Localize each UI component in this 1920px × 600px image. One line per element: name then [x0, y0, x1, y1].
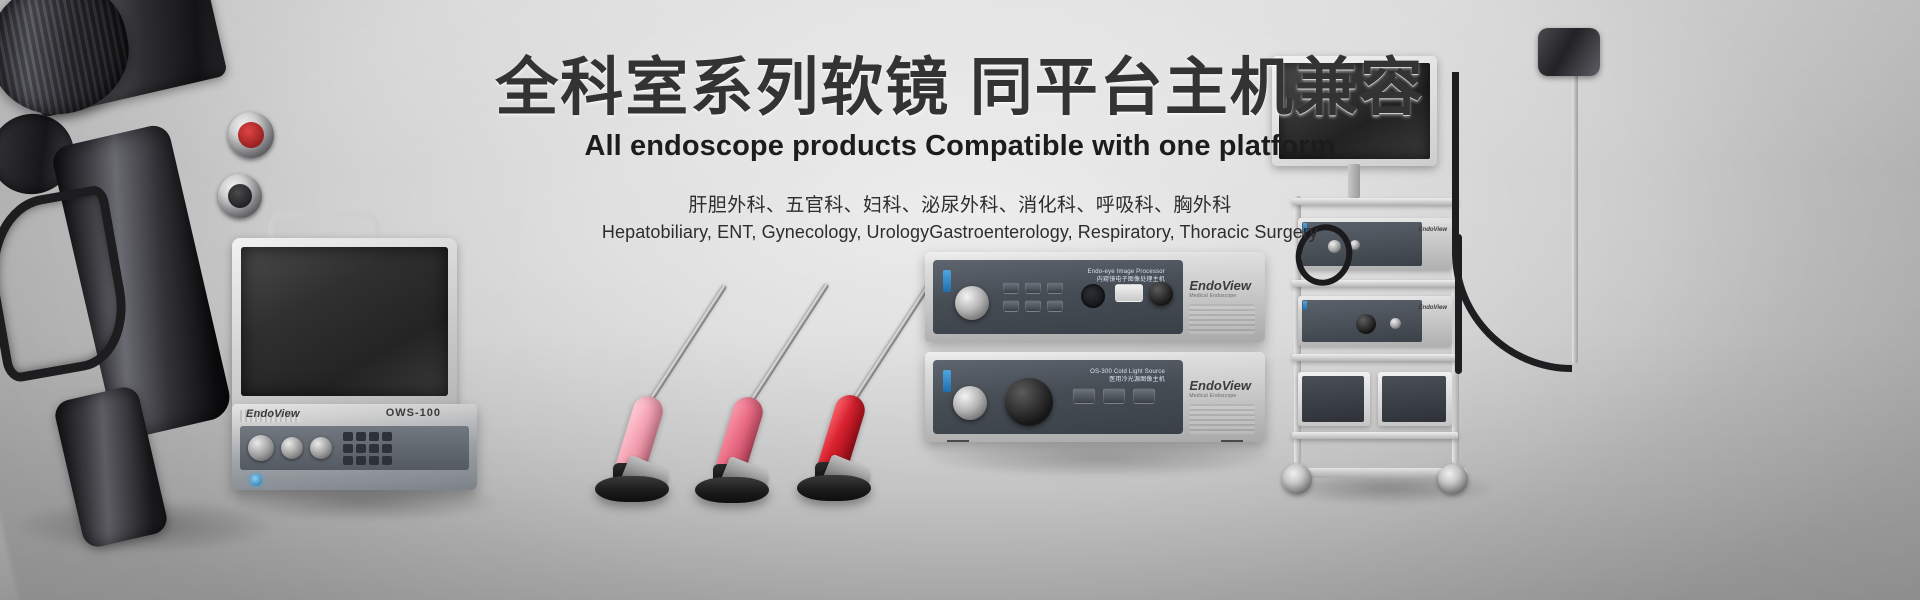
workstation-knob-2 — [281, 437, 303, 459]
processor-secondary-knob — [1149, 282, 1173, 306]
banner-headline: 全科室系列软镜 同平台主机兼容 — [0, 54, 1920, 122]
processor-front-panel: Endo-eye Image Processor 内窥镜电子图像处理主机 — [933, 260, 1183, 334]
processor-button-5 — [1025, 300, 1041, 312]
cart-lightsource-knob — [1390, 318, 1401, 329]
cart-shelf-4 — [1292, 432, 1458, 439]
lightsource-front-panel: OS-300 Cold Light Source 医用冷光源图像主机 — [933, 360, 1183, 434]
processor-main-knob — [955, 286, 989, 320]
cart-lightsource-brand: EndoView — [1419, 305, 1447, 311]
surgical-forceps-red — [708, 252, 888, 488]
cart-lightsource-unit: EndoView — [1298, 296, 1452, 346]
lightsource-brand-label: EndoView Medical Endoscope — [1189, 378, 1251, 399]
workstation-monitor-image: EndoView OWS-100 — [232, 238, 492, 500]
endoview-console-stack: Endo-eye Image Processor 内窥镜电子图像处理主机 End… — [925, 252, 1273, 452]
lightsource-button-3 — [1133, 388, 1155, 404]
workstation-base-unit: EndoView OWS-100 — [232, 404, 477, 490]
departments-chinese: 肝胆外科、五官科、妇科、泌尿外科、消化科、呼吸科、胸外科 — [0, 190, 1920, 217]
workstation-power-indicator — [250, 474, 262, 486]
lightsource-vents — [1189, 404, 1255, 434]
workstation-screen — [241, 247, 448, 396]
workstation-model-label: OWS-100 — [386, 407, 441, 419]
endoscope-highlight — [0, 377, 64, 600]
workstation-knob-3 — [310, 437, 332, 459]
cart-caster-left — [1282, 464, 1312, 494]
processor-button-4 — [1003, 300, 1019, 312]
processor-brand-sub: Medical Endoscope — [1189, 293, 1251, 299]
processor-brand-text: EndoView — [1189, 278, 1251, 293]
workstation-keypad — [343, 432, 392, 465]
cart-accessory-right-panel — [1382, 376, 1446, 422]
lightsource-scope-socket — [953, 386, 987, 420]
cart-lightsource-dial — [1356, 314, 1376, 334]
lightsource-foot-right — [1221, 440, 1243, 442]
cold-light-source-unit: OS-300 Cold Light Source 医用冷光源图像主机 EndoV… — [925, 352, 1265, 442]
banner-text-block: 全科室系列软镜 同平台主机兼容 All endoscope products C… — [0, 54, 1920, 243]
workstation-brand-label: EndoView — [246, 408, 300, 420]
lightsource-brightness-dial — [1005, 378, 1053, 426]
cart-lightsource-tab — [1303, 301, 1307, 310]
workstation-knob-1 — [248, 435, 274, 461]
processor-vents — [1189, 304, 1255, 334]
processor-title-label: Endo-eye Image Processor 内窥镜电子图像处理主机 — [1087, 268, 1165, 284]
processor-button-2 — [1025, 282, 1041, 294]
cart-accessory-box-left — [1298, 372, 1370, 426]
cart-caster-right — [1438, 464, 1468, 494]
cart-accessory-box-right — [1378, 372, 1452, 426]
processor-usb-port — [1115, 284, 1143, 302]
workstation-display-bezel — [232, 238, 457, 408]
processor-button-3 — [1047, 282, 1063, 294]
banner-subheadline: All endoscope products Compatible with o… — [0, 130, 1920, 163]
processor-scope-port — [1081, 284, 1105, 308]
processor-accent-tab — [943, 270, 951, 292]
lightsource-foot-left — [947, 440, 969, 442]
forceps-stand — [797, 475, 871, 501]
lightsource-title-label: OS-300 Cold Light Source 医用冷光源图像主机 — [1090, 368, 1165, 384]
processor-title-cn: 内窥镜电子图像处理主机 — [1097, 277, 1165, 283]
lightsource-brand-text: EndoView — [1189, 378, 1251, 393]
processor-title-en: Endo-eye Image Processor — [1087, 269, 1165, 275]
lightsource-accent-tab — [943, 370, 951, 392]
product-banner: 全科室系列软镜 同平台主机兼容 All endoscope products C… — [0, 0, 1920, 600]
lightsource-title-cn: 医用冷光源图像主机 — [1109, 377, 1165, 383]
processor-button-1 — [1003, 282, 1019, 294]
departments-english: Hepatobiliary, ENT, Gynecology, UrologyG… — [0, 222, 1920, 243]
image-processor-unit: Endo-eye Image Processor 内窥镜电子图像处理主机 End… — [925, 252, 1265, 342]
processor-button-6 — [1047, 300, 1063, 312]
lightsource-title-en: OS-300 Cold Light Source — [1090, 369, 1165, 375]
lightsource-button-2 — [1103, 388, 1125, 404]
lightsource-brand-sub: Medical Endoscope — [1189, 393, 1251, 399]
processor-brand-label: EndoView Medical Endoscope — [1189, 278, 1251, 299]
cart-scope-cable-drop — [1455, 234, 1462, 374]
workstation-control-panel — [240, 426, 469, 470]
cart-accessory-left-panel — [1302, 376, 1364, 422]
cart-shelf-3 — [1292, 354, 1458, 361]
lightsource-button-1 — [1073, 388, 1095, 404]
